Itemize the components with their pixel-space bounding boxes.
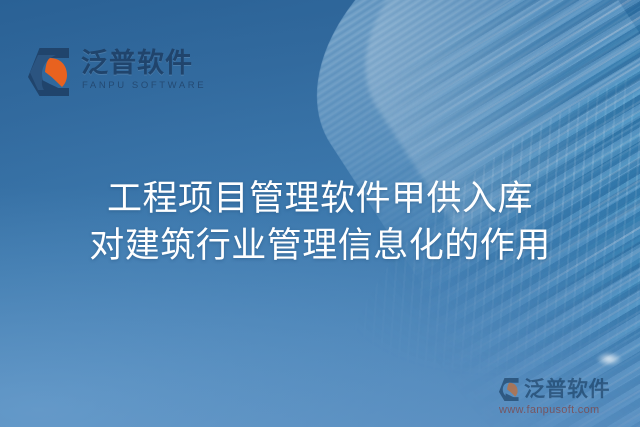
promo-banner: 泛普软件 FANPU SOFTWARE 工程项目管理软件甲供入库 对建筑行业管理… <box>0 0 640 427</box>
site-watermark: 泛普软件 www.fanpusoft.com <box>498 377 634 417</box>
brand-logo[interactable]: 泛普软件 FANPU SOFTWARE <box>26 46 206 98</box>
brand-name-en: FANPU SOFTWARE <box>81 79 206 92</box>
watermark-logo-mark-icon <box>498 377 520 402</box>
watermark-url: www.fanpusoft.com <box>499 403 634 417</box>
glass-glare-highlight <box>596 352 622 366</box>
fanpu-logo-mark-icon <box>26 46 72 98</box>
watermark-logo-row: 泛普软件 <box>498 377 634 402</box>
headline-line-1: 工程项目管理软件甲供入库 <box>0 176 640 223</box>
brand-logo-text: 泛普软件 FANPU SOFTWARE <box>81 46 206 92</box>
watermark-brand-name: 泛普软件 <box>524 378 610 401</box>
banner-headline: 工程项目管理软件甲供入库 对建筑行业管理信息化的作用 <box>0 176 640 270</box>
brand-name-cn: 泛普软件 <box>81 49 206 79</box>
headline-line-2: 对建筑行业管理信息化的作用 <box>0 223 640 270</box>
